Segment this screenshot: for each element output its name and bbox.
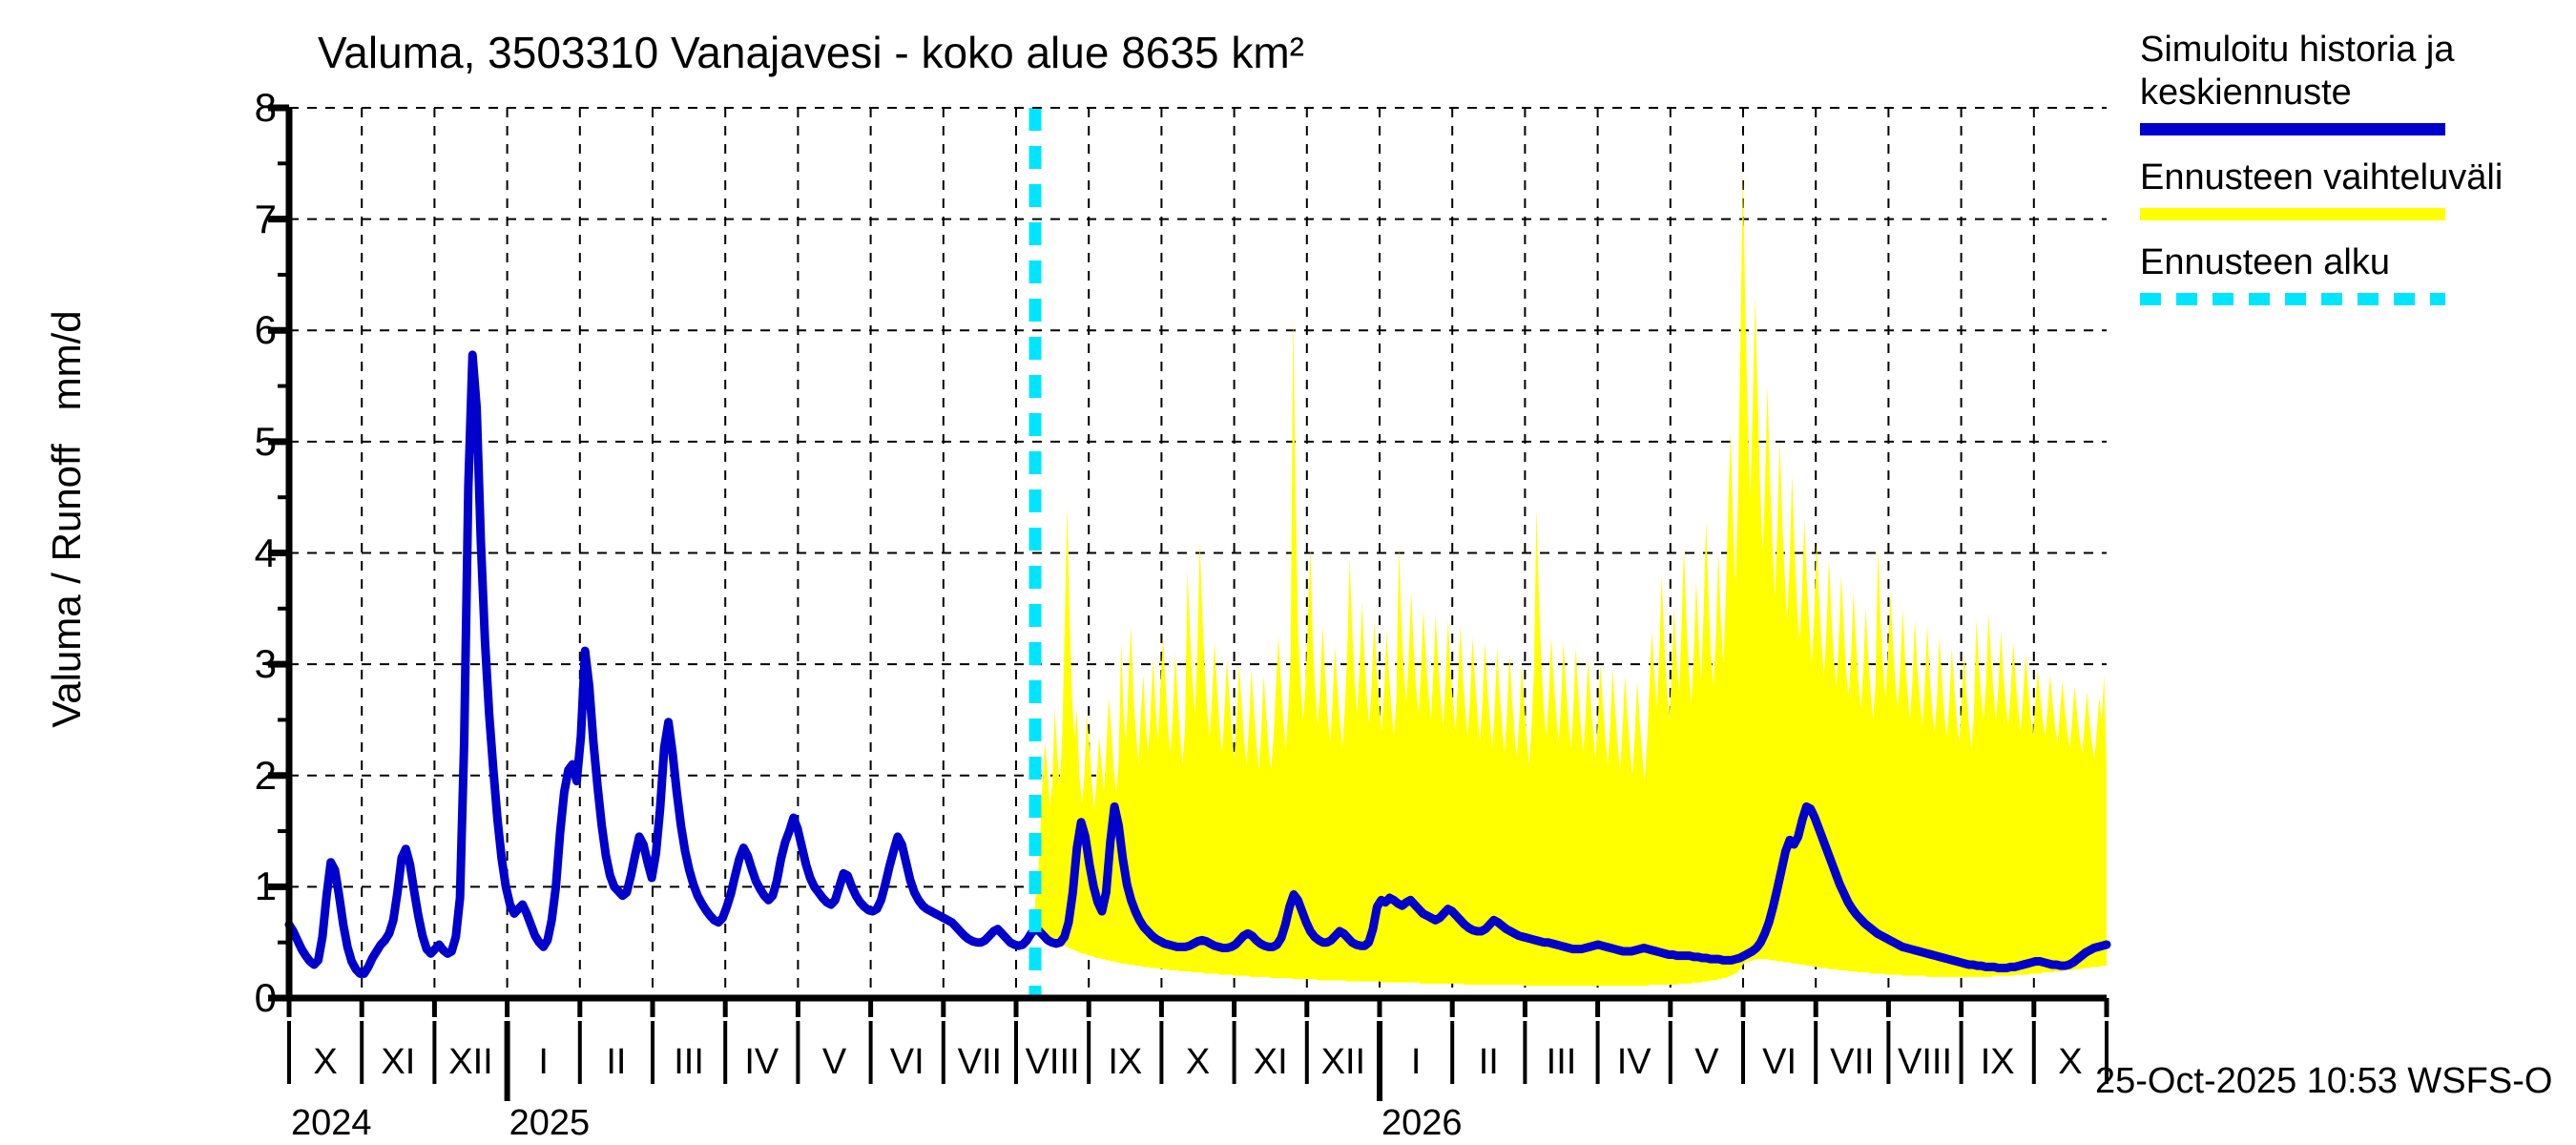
x-tick-label: I: [1378, 1044, 1454, 1080]
x-tick-label: II: [578, 1044, 654, 1080]
x-tick-label: XII: [1305, 1044, 1381, 1080]
legend-swatch-blue-line: [2140, 123, 2445, 135]
x-tick-label: V: [797, 1044, 873, 1080]
x-tick-label: X: [1160, 1044, 1236, 1080]
x-tick-label: X: [287, 1044, 364, 1080]
y-tick-label: 3: [219, 644, 277, 684]
y-axis-ticks: 876543210: [219, 0, 277, 1145]
x-tick-label: IX: [1960, 1044, 2036, 1080]
y-tick-label: 2: [219, 756, 277, 796]
legend-swatch-cyan-dashed: [2140, 293, 2445, 305]
x-axis-year-label: 2025: [509, 1105, 591, 1141]
legend-label-forecast-range: Ennusteen vaihteluväli: [2140, 156, 2576, 199]
x-tick-label: VI: [1741, 1044, 1818, 1080]
x-tick-label: XI: [360, 1044, 436, 1080]
x-tick-label: VI: [869, 1044, 945, 1080]
x-tick-label: IX: [1087, 1044, 1163, 1080]
legend-label-forecast-start: Ennusteen alku: [2140, 241, 2576, 284]
footer-timestamp: 25-Oct-2025 10:53 WSFS-O: [2095, 1061, 2552, 1102]
y-tick-label: 6: [219, 310, 277, 350]
x-tick-label: VII: [1814, 1044, 1890, 1080]
x-tick-label: I: [506, 1044, 582, 1080]
y-tick-label: 4: [219, 533, 277, 573]
x-axis-year-label: 2024: [291, 1105, 372, 1141]
forecast-range-band: [1035, 169, 2107, 986]
x-tick-label: IV: [723, 1044, 800, 1080]
x-axis-year-label: 2026: [1381, 1105, 1463, 1141]
legend-swatch-yellow-band: [2140, 208, 2445, 220]
legend-label-simulated-history: Simuloitu historia ja keskiennuste: [2140, 29, 2576, 114]
x-tick-label: VIII: [1887, 1044, 1963, 1080]
legend-item-forecast-start: Ennusteen alku: [2140, 241, 2576, 305]
x-tick-label: IV: [1596, 1044, 1672, 1080]
x-tick-label: II: [1450, 1044, 1527, 1080]
chart-legend: Simuloitu historia ja keskiennuste Ennus…: [2140, 29, 2576, 326]
y-tick-label: 1: [219, 866, 277, 906]
x-tick-label: VIII: [1014, 1044, 1091, 1080]
y-tick-label: 0: [219, 978, 277, 1018]
chart-page: Valuma, 3503310 Vanajavesi - koko alue 8…: [0, 0, 2576, 1145]
y-axis-label: Valuma / Runoff mm/d: [44, 137, 90, 901]
x-tick-label: XII: [433, 1044, 509, 1080]
x-tick-label: III: [1524, 1044, 1600, 1080]
y-tick-label: 5: [219, 422, 277, 462]
legend-item-forecast-range: Ennusteen vaihteluväli: [2140, 156, 2576, 220]
x-tick-label: VII: [942, 1044, 1018, 1080]
x-tick-label: III: [651, 1044, 727, 1080]
y-tick-label: 7: [219, 199, 277, 239]
x-tick-label: V: [1669, 1044, 1745, 1080]
legend-item-simulated-history: Simuloitu historia ja keskiennuste: [2140, 29, 2576, 135]
x-tick-label: XI: [1233, 1044, 1309, 1080]
y-tick-label: 8: [219, 88, 277, 128]
